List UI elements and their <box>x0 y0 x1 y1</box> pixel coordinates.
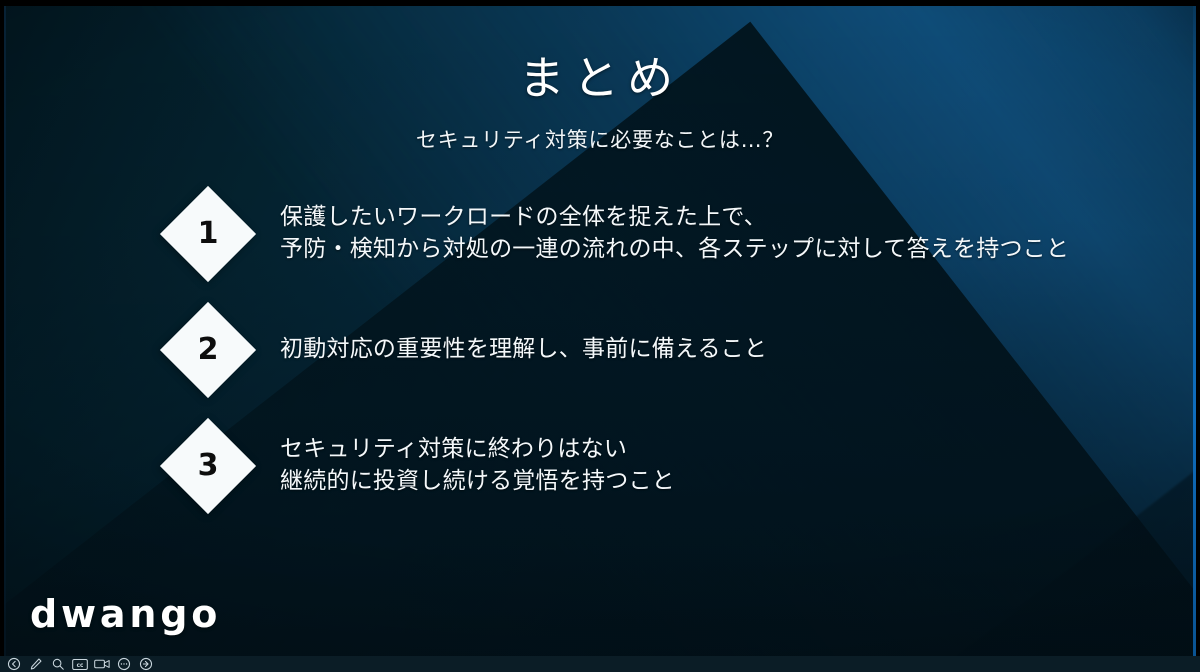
slide-subtitle: セキュリティ対策に必要なことは…？ <box>4 124 1196 154</box>
presentation-viewer: まとめ セキュリティ対策に必要なことは…？ 1 保護したいワークロードの全体を捉… <box>0 0 1200 672</box>
diamond-number-3: 3 <box>158 416 258 516</box>
summary-points-list: 1 保護したいワークロードの全体を捉えた上で、 予防・検知から対処の一連の流れの… <box>4 176 1196 524</box>
previous-slide-button[interactable] <box>4 657 24 672</box>
pencil-icon <box>29 657 43 671</box>
cc-icon: cc <box>72 658 88 671</box>
diamond-number-1: 1 <box>158 184 258 284</box>
svg-text:cc: cc <box>77 662 84 668</box>
video-toggle-button[interactable] <box>92 657 112 672</box>
captions-toggle-button[interactable]: cc <box>70 657 90 672</box>
next-slide-button[interactable] <box>136 657 156 672</box>
viewer-toolbar: cc <box>0 656 1200 672</box>
summary-point-text-2: 初動対応の重要性を理解し、事前に備えること <box>280 334 767 366</box>
summary-point-text-3: セキュリティ対策に終わりはない 継続的に投資し続ける覚悟を持つこと <box>280 434 675 497</box>
ellipsis-circle-icon <box>117 657 131 671</box>
video-camera-icon <box>94 658 110 670</box>
dwango-logo: dwango <box>30 592 221 636</box>
diamond-badge-1: 1 <box>158 184 258 284</box>
zoom-tool-button[interactable] <box>48 657 68 672</box>
arrow-right-circle-icon <box>139 657 153 671</box>
summary-point-text-1: 保護したいワークロードの全体を捉えた上で、 予防・検知から対処の一連の流れの中、… <box>280 202 1069 265</box>
summary-point-3: 3 セキュリティ対策に終わりはない 継続的に投資し続ける覚悟を持つこと <box>4 408 1196 524</box>
magnifier-icon <box>51 657 65 671</box>
pen-tool-button[interactable] <box>26 657 46 672</box>
slide-canvas: まとめ セキュリティ対策に必要なことは…？ 1 保護したいワークロードの全体を捉… <box>4 6 1196 658</box>
diamond-badge-3: 3 <box>158 416 258 516</box>
diamond-badge-2: 2 <box>158 300 258 400</box>
slide-title: まとめ <box>4 42 1196 108</box>
diamond-number-2: 2 <box>158 300 258 400</box>
slide-content: まとめ セキュリティ対策に必要なことは…？ 1 保護したいワークロードの全体を捉… <box>4 6 1196 658</box>
arrow-left-circle-icon <box>7 657 21 671</box>
summary-point-1: 1 保護したいワークロードの全体を捉えた上で、 予防・検知から対処の一連の流れの… <box>4 176 1196 292</box>
summary-point-2: 2 初動対応の重要性を理解し、事前に備えること <box>4 292 1196 408</box>
more-options-button[interactable] <box>114 657 134 672</box>
